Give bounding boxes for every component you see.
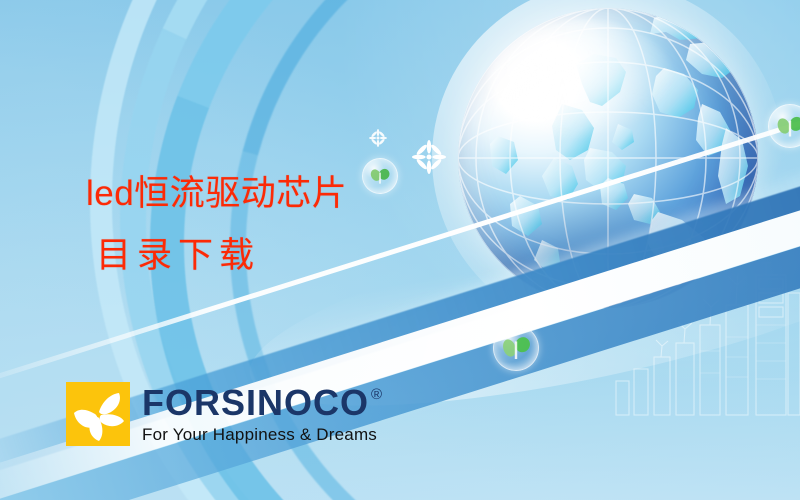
eco-bubble-center xyxy=(493,325,539,371)
brand-name: FORSINOCO xyxy=(142,385,369,421)
registered-mark: ® xyxy=(371,387,383,402)
green-sprout-icon xyxy=(494,326,538,370)
promo-banner: led恒流驱动芯片 目录下载 FORSINOCO ® For Your Happ… xyxy=(0,0,800,500)
brand-tagline: For Your Happiness & Dreams xyxy=(142,426,383,443)
brand-wordmark-block: FORSINOCO ® For Your Happiness & Dreams xyxy=(142,385,383,443)
globe-highlight xyxy=(488,20,674,140)
daisy-sparkle-large xyxy=(412,140,446,174)
green-sprout-icon xyxy=(769,105,800,147)
eco-bubble-left xyxy=(362,158,398,194)
brand-logo: FORSINOCO ® For Your Happiness & Dreams xyxy=(66,382,383,446)
four-petal-pinwheel-icon xyxy=(66,382,130,446)
eco-bubble-right xyxy=(768,104,800,148)
headline-line-1: led恒流驱动芯片 xyxy=(86,163,347,225)
green-sprout-icon xyxy=(363,159,397,193)
brand-wordmark: FORSINOCO ® xyxy=(142,385,383,421)
headline-line-2: 目录下载 xyxy=(96,225,260,287)
daisy-sparkle-small xyxy=(369,129,387,147)
